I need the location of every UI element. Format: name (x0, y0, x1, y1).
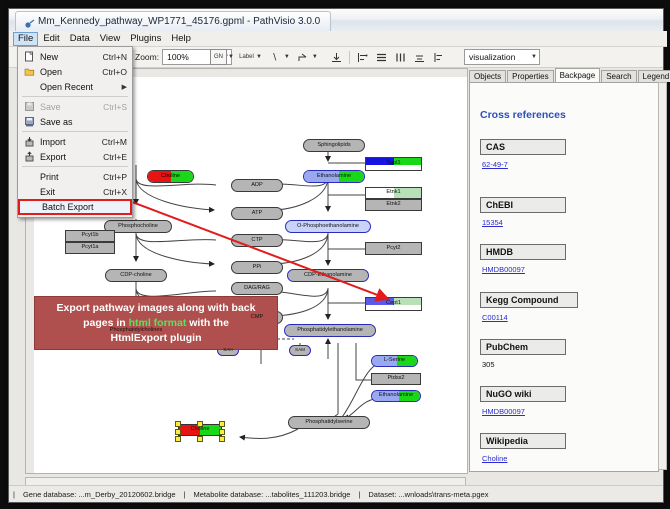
align-right-icon[interactable] (430, 49, 447, 65)
node-atp[interactable]: ATP (231, 207, 283, 220)
pathvisio-window: Mm_Kennedy_pathway_WP1771_45176.gpml - P… (8, 8, 664, 503)
align-left-icon[interactable] (354, 49, 371, 65)
node-choline-selected[interactable]: Choline (178, 424, 222, 436)
xref-header-pubchem: PubChem (480, 339, 566, 355)
menu-help[interactable]: Help (166, 32, 196, 46)
node-gene-etnk1[interactable]: Etnk1 (365, 187, 422, 199)
status-metabolite-database: Metabolite database: ...tabolites_111203… (190, 490, 355, 499)
stack-center-icon[interactable] (411, 49, 428, 65)
menu-divider (22, 131, 128, 132)
import-icon (18, 136, 40, 147)
save-disk-icon (18, 101, 40, 112)
title-bar: Mm_Kennedy_pathway_WP1771_45176.gpml - P… (9, 9, 663, 32)
datanode-icon[interactable]: GN (210, 49, 227, 65)
node-phosphatidylethanolamine[interactable]: Phosphatidylethanolamine (284, 324, 376, 337)
annotation-callout: Export pathway images along with back pa… (34, 296, 278, 350)
status-bar: | Gene database: ...m_Derby_20120602.bri… (9, 485, 663, 502)
xref-header-hmdb: HMDB (480, 244, 566, 260)
cross-references-title: Cross references (480, 109, 566, 121)
node-dag-rag[interactable]: DAG/RAG (231, 282, 283, 295)
datanode-dropdown-icon[interactable]: ▼ (228, 54, 234, 60)
node-ethanolamine-bottom[interactable]: Ethanolamine (371, 390, 421, 402)
node-l-serine[interactable]: L-Serine (371, 355, 418, 367)
node-gene-etnk2[interactable]: Etnk2 (365, 199, 422, 211)
chevron-right-icon: ▶ (122, 83, 132, 91)
node-ethanolamine-top[interactable]: Ethanolamine (303, 170, 365, 183)
node-gene-pcyt1a[interactable]: Pcyt1a (65, 242, 115, 254)
node-cdp-choline[interactable]: CDP-choline (105, 269, 167, 282)
file-menu-item-new[interactable]: New Ctrl+N (18, 49, 132, 64)
window-title-chip: Mm_Kennedy_pathway_WP1771_45176.gpml - P… (15, 11, 331, 31)
xref-header-wikipedia: Wikipedia (480, 433, 566, 449)
menu-data[interactable]: Data (65, 32, 95, 46)
menu-bar: File Edit Data View Plugins Help (9, 31, 667, 47)
node-cdp-ethanolamine[interactable]: CDP-Ethanolamine (287, 269, 369, 282)
xref-header-cas: CAS (480, 139, 566, 155)
node-gene-sgpl1[interactable]: Sgpl1 (365, 157, 422, 171)
zoom-label: Zoom: (135, 52, 159, 62)
node-o-phosphoethanolamine[interactable]: O-Phosphoethanolamine (285, 220, 371, 233)
xref-header-kegg-compound: Kegg Compound (480, 292, 578, 308)
right-side-panel: Objects Properties Backpage Search Legen… (469, 68, 667, 472)
node-sphingolipids[interactable]: Sphingolipids (303, 139, 365, 152)
file-menu-item-export[interactable]: Export Ctrl+E (18, 149, 132, 164)
node-phosphatidylserine[interactable]: Phosphatidylserine (288, 416, 370, 429)
file-menu-item-open[interactable]: Open Ctrl+O (18, 64, 132, 79)
visualization-combobox[interactable]: visualization ▼ (464, 49, 540, 65)
pathvisio-app-icon (24, 18, 36, 30)
xref-value-pubchem: 305 (482, 360, 495, 369)
file-menu-item-batch-export[interactable]: Batch Export (18, 199, 132, 215)
menu-view[interactable]: View (95, 32, 125, 46)
open-folder-icon (18, 66, 40, 77)
file-menu-item-exit[interactable]: Exit Ctrl+X (18, 184, 132, 199)
zoom-value: 100% (167, 52, 189, 62)
node-gene-cept1[interactable]: Cept1 (365, 297, 422, 311)
window-title-text: Mm_Kennedy_pathway_WP1771_45176.gpml - P… (38, 16, 320, 27)
xref-value-chebi[interactable]: 15354 (482, 218, 503, 227)
xref-header-nugo-wiki: NuGO wiki (480, 386, 566, 402)
xref-value-cas[interactable]: 62-49-7 (482, 160, 508, 169)
file-menu-item-import[interactable]: Import Ctrl+M (18, 134, 132, 149)
file-menu-item-save: Save Ctrl+S (18, 99, 132, 114)
tab-objects[interactable]: Objects (469, 70, 506, 82)
save-as-icon (18, 116, 40, 127)
line-icon[interactable]: ∖ (266, 49, 283, 65)
tab-backpage[interactable]: Backpage (555, 68, 601, 82)
status-separator: | (354, 490, 364, 499)
file-menu-item-print[interactable]: Print Ctrl+P (18, 169, 132, 184)
xref-value-kegg-compound[interactable]: C00114 (482, 313, 508, 322)
callout-line-2-post: with the (186, 317, 229, 329)
file-menu-item-save-as[interactable]: Save as (18, 114, 132, 129)
side-panel-scrollbar[interactable] (658, 82, 667, 470)
file-menu-item-open-recent[interactable]: Open Recent ▶ (18, 79, 132, 94)
visualization-value: visualization (469, 52, 515, 62)
side-panel-tabs: Objects Properties Backpage Search Legen… (469, 68, 670, 82)
xref-value-wikipedia[interactable]: Choline (482, 454, 507, 463)
tab-search[interactable]: Search (601, 70, 636, 82)
node-gene-pcyt1b[interactable]: Pcyt1b (65, 230, 115, 242)
line-dropdown-icon[interactable]: ▼ (284, 54, 290, 60)
screenshot-root: Mm_Kennedy_pathway_WP1771_45176.gpml - P… (0, 0, 670, 509)
menu-plugins[interactable]: Plugins (125, 32, 166, 46)
xref-value-nugo-wiki[interactable]: HMDB00097 (482, 407, 525, 416)
xref-header-chebi: ChEBI (480, 197, 566, 213)
interaction-dropdown-icon[interactable]: ▼ (312, 54, 318, 60)
status-separator: | (9, 490, 19, 499)
tab-properties[interactable]: Properties (507, 70, 553, 82)
same-width-icon[interactable] (392, 49, 409, 65)
callout-line-1: Export pathway images along with back (57, 301, 256, 316)
node-choline-top[interactable]: Choline (147, 170, 194, 183)
xref-value-hmdb[interactable]: HMDB00097 (482, 265, 525, 274)
node-gene-pcyt2[interactable]: Pcyt2 (365, 242, 422, 255)
status-gene-database: Gene database: ...m_Derby_20120602.bridg… (19, 490, 180, 499)
node-adp[interactable]: ADP (231, 179, 283, 192)
label-dropdown-icon[interactable]: ▼ (256, 54, 262, 60)
align-top-icon[interactable] (328, 49, 345, 65)
status-separator: | (180, 490, 190, 499)
backpage-content: Cross references CAS 62-49-7 ChEBI 15354… (469, 82, 659, 472)
file-menu-dropdown[interactable]: New Ctrl+N Open Ctrl+O Open Recent ▶ (17, 46, 133, 218)
distribute-horizontal-icon[interactable] (373, 49, 390, 65)
chevron-down-icon: ▼ (531, 54, 537, 60)
tab-legend[interactable]: Legend (638, 70, 670, 82)
node-ppi[interactable]: PPi (231, 261, 283, 274)
menu-divider (22, 166, 128, 167)
node-ctp[interactable]: CTP (231, 234, 283, 247)
new-document-icon (18, 51, 40, 62)
export-icon (18, 151, 40, 162)
label-icon[interactable]: Label (238, 49, 255, 65)
interaction-icon[interactable] (294, 49, 311, 65)
node-sam[interactable]: SAM (289, 345, 311, 356)
status-dataset: Dataset: ...wnloads\trans-meta.pgex (364, 490, 492, 499)
node-gene-ptdss2[interactable]: Ptdss2 (371, 373, 421, 385)
menu-file[interactable]: File (13, 32, 38, 46)
menu-divider (22, 96, 128, 97)
menu-edit[interactable]: Edit (38, 32, 64, 46)
